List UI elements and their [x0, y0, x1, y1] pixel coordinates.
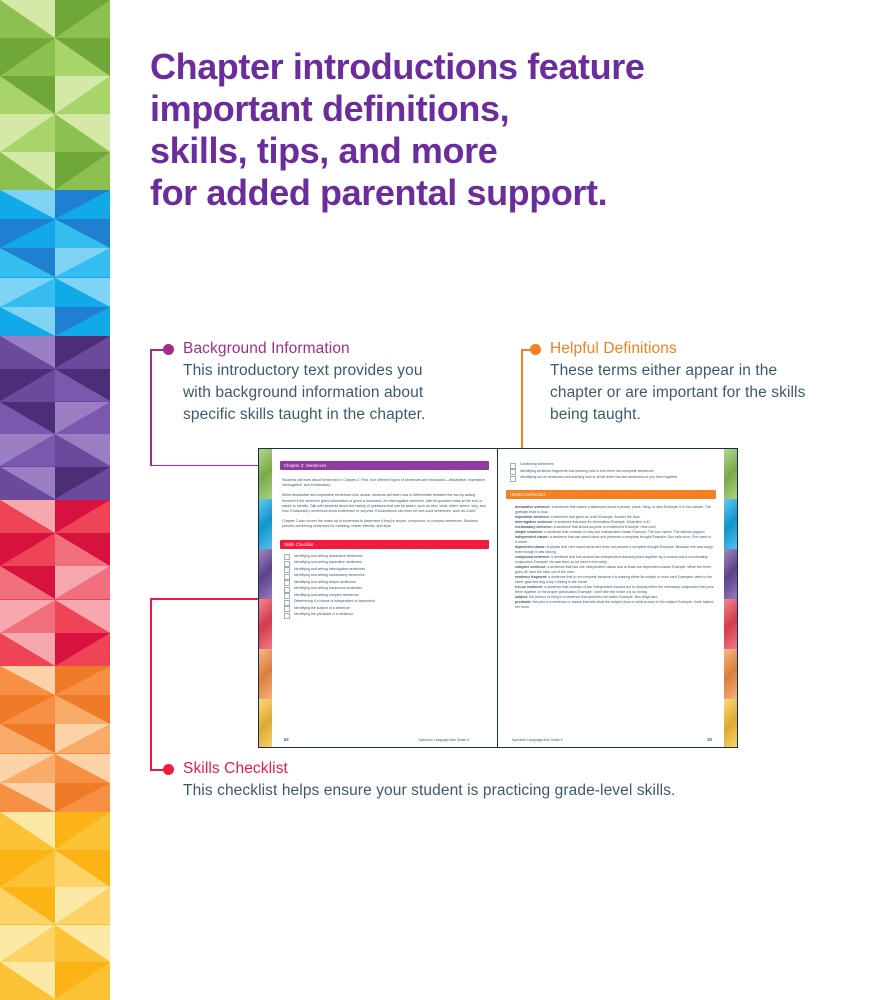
definition-item: declarative sentence: a sentence that ma…	[510, 505, 714, 515]
checklist-item-label: Identifying and writing imperative sente…	[294, 560, 362, 565]
definition-term: predicate:	[515, 600, 532, 604]
rainbow-facet	[0, 190, 55, 219]
rainbow-facet	[55, 38, 110, 76]
definition-term: compound sentence:	[515, 555, 550, 559]
page-stripe-band	[259, 549, 272, 599]
rainbow-facet	[55, 278, 110, 307]
callout-body-line-2: with background information about	[183, 382, 503, 404]
page-stripe-band	[724, 649, 737, 699]
rainbow-band-blue	[0, 190, 110, 336]
rainbow-band-purple	[0, 336, 110, 500]
headline-line-1: Chapter introductions feature	[150, 46, 770, 88]
definition-item: complex sentence: a sentence that has on…	[510, 565, 714, 575]
chapter-bar-dots: · · · · · · · · · · · · · · · · · · · · …	[328, 463, 489, 468]
callout-title-checklist: Skills Checklist	[183, 760, 783, 778]
rainbow-facet	[0, 369, 55, 401]
checklist-item[interactable]: Identifying the predicate of a sentence	[284, 612, 487, 619]
rainbow-facet	[55, 219, 110, 248]
definition-text: the person or thing in a sentence that p…	[528, 595, 657, 599]
decorative-rainbow-bar	[0, 0, 110, 1000]
rainbow-facet	[55, 812, 110, 849]
page-stripe-band	[724, 599, 737, 649]
definition-item: predicate: the part of a sentence or cla…	[510, 600, 714, 610]
definition-term: interrogative sentence:	[515, 520, 554, 524]
rainbow-facet	[0, 500, 55, 533]
checklist-item-label: Identifying and writing complex sentence…	[294, 593, 359, 598]
spread-left-page: Chapter 2: Sentences · · · · · · · · · ·…	[259, 449, 498, 747]
definition-term: subject:	[515, 595, 528, 599]
rainbow-facet	[55, 402, 110, 434]
page-stripe-facet	[724, 649, 737, 699]
helpful-definitions-bar-dots: · · · · · · · · · · · · · · · · · · · · …	[547, 492, 716, 497]
rainbow-facet	[55, 152, 110, 190]
page-footer-right: Spectrum Language Arts Grade 5 53	[508, 737, 712, 742]
checkbox-icon[interactable]	[510, 463, 516, 469]
checkbox-icon[interactable]	[284, 561, 290, 567]
rainbow-facet	[0, 887, 55, 924]
definition-text: a sentence that consists of only one ind…	[543, 530, 705, 534]
page-source-label: Spectrum Language Arts Grade 5	[508, 738, 707, 742]
checkbox-icon[interactable]	[510, 469, 516, 475]
skills-checklist-list-right: Combining sentencesIdentifying sentence …	[498, 462, 724, 482]
rainbow-facet	[0, 783, 55, 812]
page-stripe-band	[259, 699, 272, 747]
rainbow-facet	[55, 467, 110, 499]
spread-right-page: Combining sentencesIdentifying sentence …	[498, 449, 737, 747]
intro-paragraph: Students will learn about sentences in C…	[282, 478, 487, 488]
rainbow-facet	[0, 114, 55, 152]
page-stripe-facet	[259, 549, 272, 599]
callout-body-background: This introductory text provides you with…	[183, 360, 503, 426]
rainbow-facet	[0, 754, 55, 783]
checkbox-icon[interactable]	[284, 606, 290, 612]
checkbox-icon[interactable]	[284, 580, 290, 586]
rainbow-facet	[0, 307, 55, 336]
rainbow-facet	[55, 533, 110, 566]
definitions-list: declarative sentence: a sentence that ma…	[498, 505, 724, 610]
rainbow-facet	[55, 633, 110, 666]
rainbow-facet	[55, 783, 110, 812]
rainbow-facet	[0, 600, 55, 633]
page-stripe-facet	[724, 599, 737, 649]
page-stripe-band	[259, 449, 272, 499]
rainbow-facet	[0, 962, 55, 999]
rainbow-facet	[55, 307, 110, 336]
rainbow-facet	[55, 434, 110, 466]
rainbow-band-green	[0, 0, 110, 190]
rainbow-facet	[0, 633, 55, 666]
page-stripe-facet	[724, 549, 737, 599]
skills-checklist-bar-label: Skills Checklist	[284, 542, 314, 547]
callout-background-information: Background Information This introductory…	[163, 340, 503, 426]
checklist-item-label: Identifying the subject of a sentence	[294, 606, 350, 611]
rainbow-facet	[55, 369, 110, 401]
definition-term: declarative sentence:	[515, 505, 551, 509]
callout-title-definitions: Helpful Definitions	[550, 340, 860, 358]
page-title: Chapter introductions feature important …	[150, 46, 770, 214]
checklist-item-label: Determining if a clause is independent o…	[294, 599, 375, 604]
definition-text: a phrase that can't stand alone and does…	[515, 545, 713, 554]
rainbow-facet	[55, 500, 110, 533]
checkbox-icon[interactable]	[284, 574, 290, 580]
checklist-item-label: Combining sentences	[520, 462, 554, 467]
rainbow-facet	[55, 0, 110, 38]
rainbow-facet	[55, 76, 110, 114]
rainbow-facet	[55, 114, 110, 152]
rainbow-facet	[55, 190, 110, 219]
checklist-item-label: Identifying the predicate of a sentence	[294, 612, 353, 617]
connector-checklist-vertical	[150, 598, 152, 770]
checkbox-icon[interactable]	[284, 593, 290, 599]
rainbow-facet	[55, 925, 110, 962]
definition-item: sentence fragment: a sentence that is no…	[510, 575, 714, 585]
rainbow-facet	[0, 724, 55, 753]
checklist-item-label: Identifying and writing compound sentenc…	[294, 586, 362, 591]
page-stripe-band	[259, 499, 272, 549]
page-stripe-band	[724, 549, 737, 599]
definition-text: a sentence that consists of two independ…	[515, 585, 714, 594]
callout-body-line-1: This introductory text provides you	[183, 360, 503, 382]
rainbow-facet	[0, 0, 55, 38]
rainbow-facet	[0, 666, 55, 695]
rainbow-facet	[0, 248, 55, 277]
definition-text: a sentence that asks for information Exa…	[554, 520, 651, 524]
definition-term: complex sentence:	[515, 565, 547, 569]
page-stripe-right	[724, 449, 737, 747]
checklist-item-label: Identifying and writing interrogative se…	[294, 567, 365, 572]
definition-text: a sentence that shows surprise or excite…	[553, 525, 656, 529]
checkbox-icon[interactable]	[510, 476, 516, 482]
rainbow-facet	[0, 278, 55, 307]
intro-paragraph: Chapter 2 also covers the make-up of sen…	[282, 519, 487, 529]
checklist-item-label: Identifying and writing declarative sent…	[294, 554, 363, 559]
definition-term: simple sentence:	[515, 530, 543, 534]
helpful-definitions-bar: Helpful Definitions · · · · · · · · · · …	[506, 490, 716, 499]
definition-term: run-on sentence:	[515, 585, 543, 589]
definition-term: imperative sentence:	[515, 515, 550, 519]
rainbow-band-orange	[0, 666, 110, 812]
callout-dot-background	[163, 344, 174, 355]
checklist-item-label: Identifying run-on sentences and learnin…	[520, 475, 677, 480]
definition-term: sentence fragment:	[515, 575, 547, 579]
rainbow-facet	[55, 248, 110, 277]
rainbow-facet	[0, 850, 55, 887]
intro-paragraph: While declarative and imperative sentenc…	[282, 493, 487, 514]
checkbox-icon[interactable]	[284, 567, 290, 573]
page-stripe-facet	[259, 599, 272, 649]
rainbow-facet	[0, 812, 55, 849]
connector-background-vertical	[150, 349, 152, 466]
callout-body-checklist: This checklist helps ensure your student…	[183, 780, 783, 802]
page-stripe-band	[724, 449, 737, 499]
rainbow-facet	[55, 566, 110, 599]
headline-line-2: important definitions,	[150, 88, 770, 130]
page-stripe-band	[259, 599, 272, 649]
rainbow-facet	[55, 724, 110, 753]
checklist-item-label: Identifying and writing exclamatory sent…	[294, 573, 365, 578]
rainbow-facet	[0, 533, 55, 566]
rainbow-facet	[0, 152, 55, 190]
rainbow-facet	[0, 219, 55, 248]
page-number: 53	[707, 737, 712, 742]
rainbow-facet	[55, 887, 110, 924]
skills-checklist-list-left: Identifying and writing declarative sent…	[272, 554, 497, 619]
callout-body-line-3: being taught.	[550, 404, 860, 426]
callout-skills-checklist: Skills Checklist This checklist helps en…	[163, 760, 783, 802]
headline-line-3: skills, tips, and more	[150, 130, 770, 172]
callout-dot-checklist	[163, 764, 174, 775]
skills-checklist-bar-left: Skills Checklist · · · · · · · · · · · ·…	[280, 540, 489, 549]
definition-item: dependent clause: a phrase that can't st…	[510, 545, 714, 555]
page-stripe-facet	[259, 649, 272, 699]
page-footer-left: 52 Spectrum Language Arts Grade 5	[284, 737, 487, 742]
callout-body-line-1: This checklist helps ensure your student…	[183, 780, 783, 802]
page-stripe-facet	[724, 699, 737, 747]
definition-item: compound sentence: a sentence that has a…	[510, 555, 714, 565]
callout-body-definitions: These terms either appear in the chapter…	[550, 360, 860, 426]
rainbow-facet	[55, 962, 110, 999]
rainbow-facet	[0, 336, 55, 368]
rainbow-facet	[0, 467, 55, 499]
checkbox-icon[interactable]	[284, 587, 290, 593]
rainbow-facet	[55, 850, 110, 887]
callout-body-line-2: chapter or are important for the skills	[550, 382, 860, 404]
rainbow-band-red	[0, 500, 110, 666]
page-source-label: Spectrum Language Arts Grade 5	[289, 738, 487, 742]
rainbow-facet	[55, 600, 110, 633]
rainbow-facet	[0, 695, 55, 724]
checkbox-icon[interactable]	[284, 554, 290, 560]
checkbox-icon[interactable]	[284, 613, 290, 619]
page-stripe-facet	[724, 499, 737, 549]
definition-text: a sentence that gives an order Example: …	[550, 515, 641, 519]
page-stripe-facet	[259, 449, 272, 499]
rainbow-facet	[0, 38, 55, 76]
definition-term: dependent clause:	[515, 545, 546, 549]
checklist-item-label: Identifying sentence fragments and learn…	[520, 469, 654, 474]
callout-helpful-definitions: Helpful Definitions These terms either a…	[530, 340, 860, 426]
helpful-definitions-bar-label: Helpful Definitions	[510, 492, 546, 497]
rainbow-facet	[55, 336, 110, 368]
rainbow-band-yellow	[0, 812, 110, 1000]
rainbow-facet	[55, 666, 110, 695]
page-stripe-facet	[259, 699, 272, 747]
rainbow-facet	[0, 76, 55, 114]
callout-dot-definitions	[530, 344, 541, 355]
callout-body-line-1: These terms either appear in the	[550, 360, 860, 382]
skills-checklist-bar-dots: · · · · · · · · · · · · · · · · · · · · …	[315, 542, 489, 547]
checkbox-icon[interactable]	[284, 600, 290, 606]
callout-body-line-3: specific skills taught in the chapter.	[183, 404, 503, 426]
rainbow-facet	[55, 754, 110, 783]
definition-item: run-on sentence: a sentence that consist…	[510, 585, 714, 595]
checklist-item-label: Identifying and writing simple sentences	[294, 580, 356, 585]
chapter-bar-label: Chapter 2: Sentences	[284, 463, 327, 468]
rainbow-facet	[0, 402, 55, 434]
book-spread-preview: Chapter 2: Sentences · · · · · · · · · ·…	[258, 448, 738, 748]
definition-term: exclamatory sentence:	[515, 525, 553, 529]
rainbow-facet	[55, 695, 110, 724]
rainbow-facet	[0, 925, 55, 962]
definition-term: independent clause:	[515, 535, 549, 539]
page-stripe-facet	[724, 449, 737, 499]
callout-title-background: Background Information	[183, 340, 503, 358]
page-stripe-band	[724, 499, 737, 549]
page-stripe-facet	[259, 499, 272, 549]
page-stripe-band	[259, 649, 272, 699]
page-stripe-band	[724, 699, 737, 747]
page-stripe-left	[259, 449, 272, 747]
rainbow-facet	[0, 434, 55, 466]
chapter-bar-left: Chapter 2: Sentences · · · · · · · · · ·…	[280, 461, 489, 470]
definition-text: the part of a sentence or clause that te…	[515, 600, 713, 609]
definition-item: independent clause: a sentence that can …	[510, 535, 714, 545]
rainbow-facet	[0, 566, 55, 599]
headline-line-4: for added parental support.	[150, 172, 770, 214]
